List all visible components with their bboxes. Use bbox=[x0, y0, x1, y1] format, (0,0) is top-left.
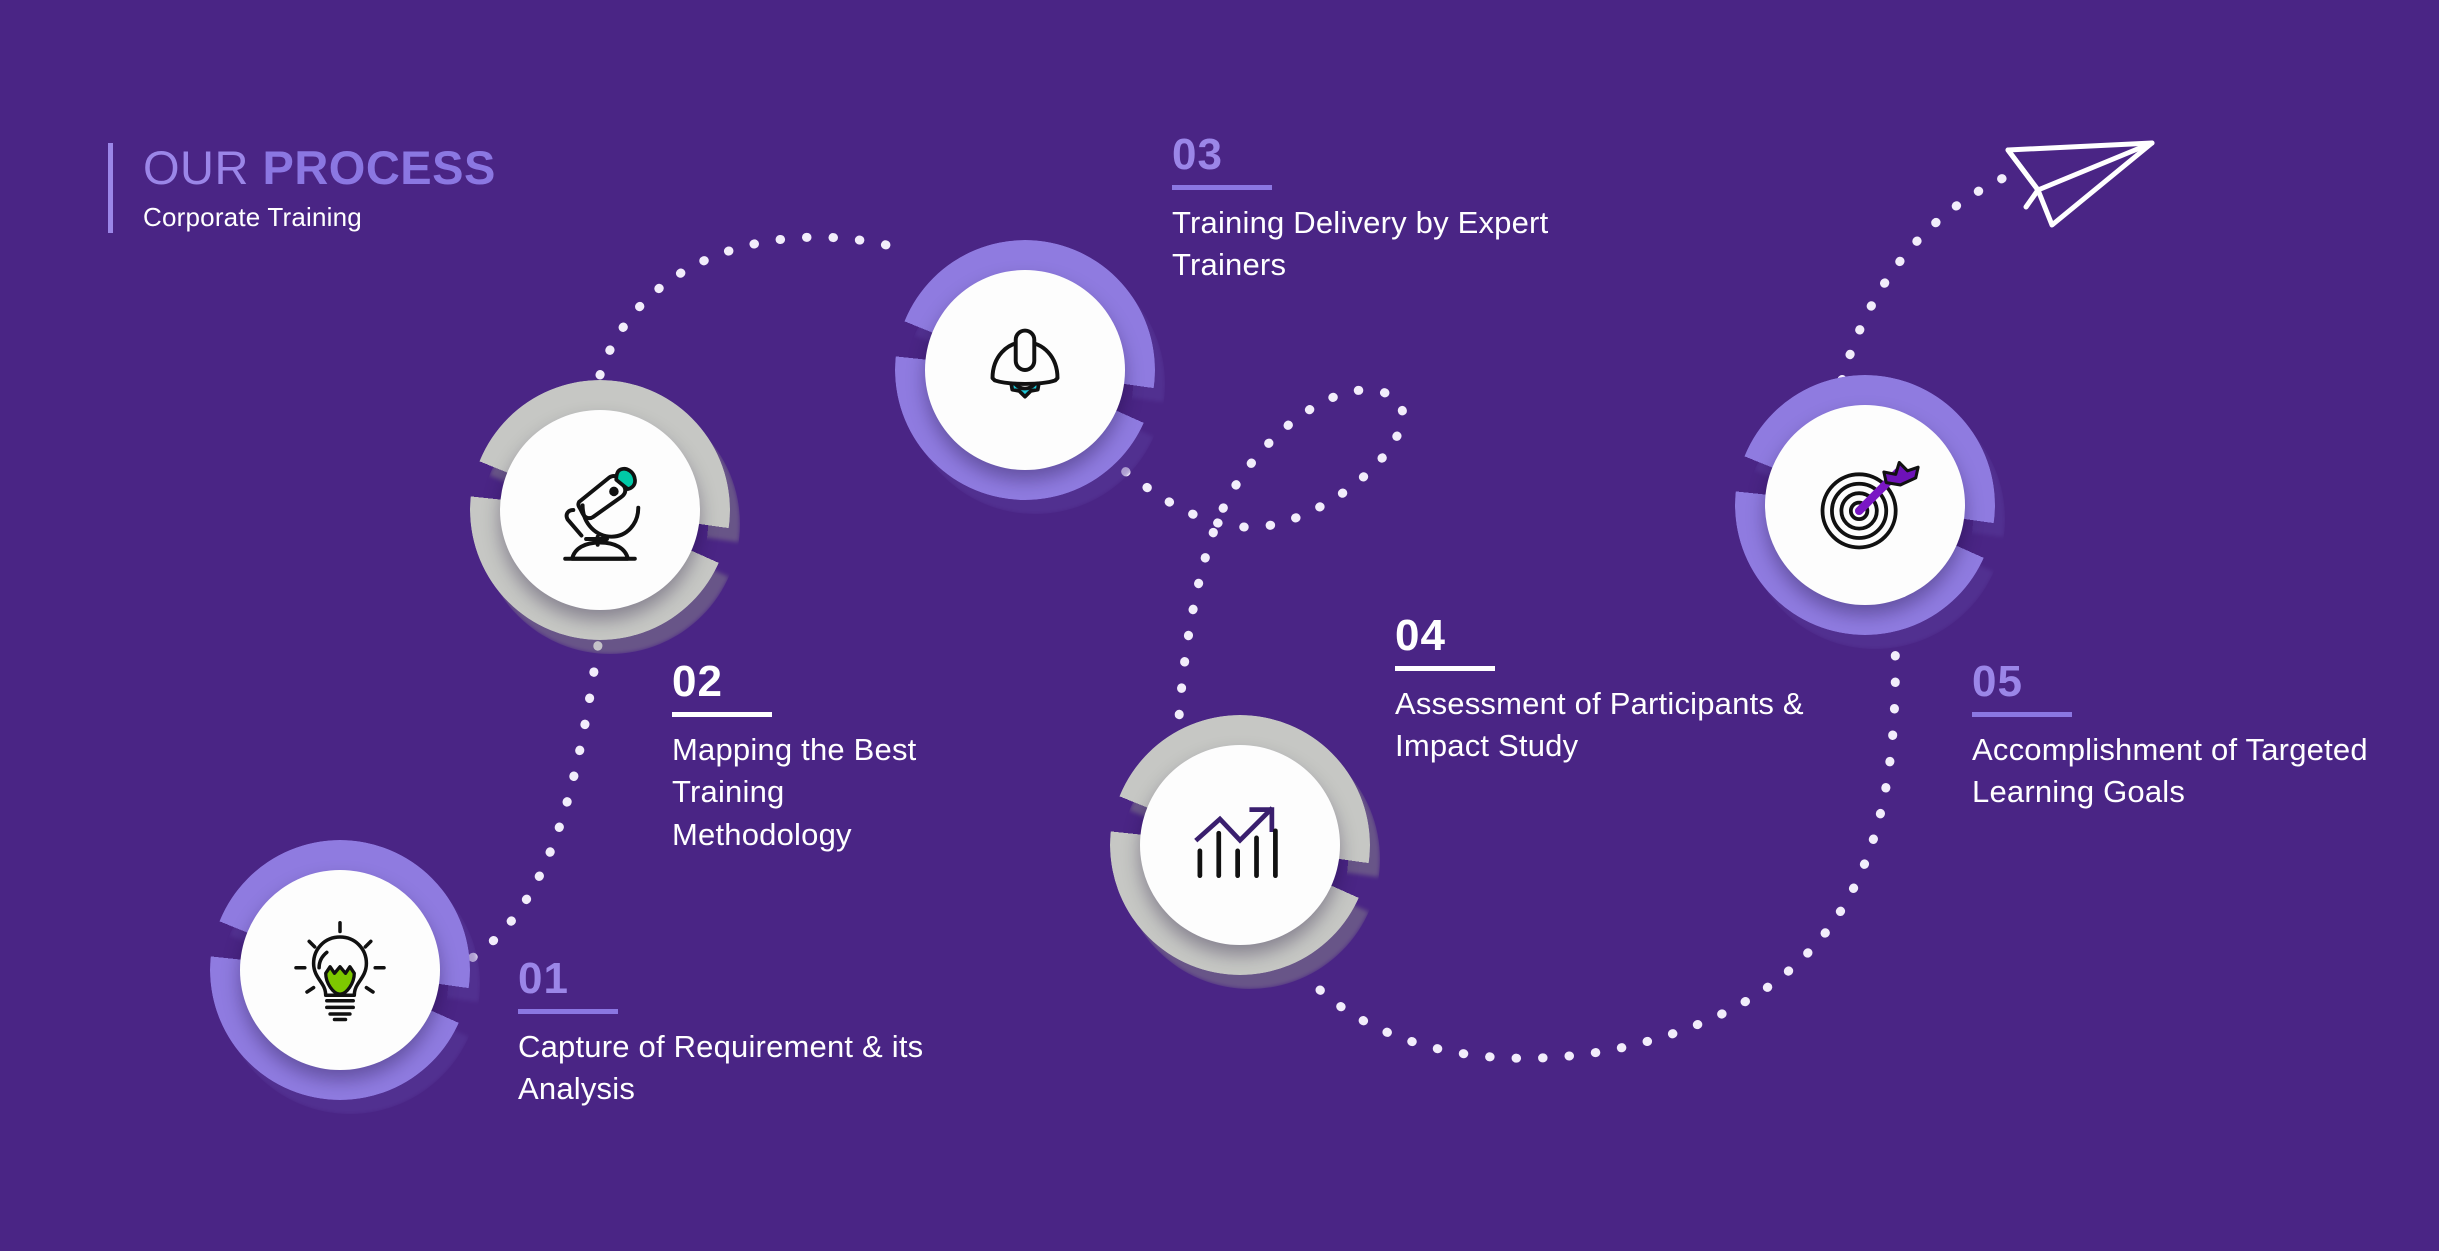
icon-disc bbox=[500, 410, 700, 610]
step-number: 03 bbox=[1172, 133, 1592, 177]
step-text-04: 04 Assessment of Participants & Impact S… bbox=[1395, 614, 1845, 768]
infographic-canvas: OUR PROCESS Corporate Training bbox=[0, 0, 2439, 1251]
step-label: Accomplishment of Targeted Learning Goal… bbox=[1972, 729, 2372, 814]
step-underline bbox=[518, 1009, 618, 1014]
page-title-light: OUR bbox=[143, 141, 263, 194]
page-title-bold: PROCESS bbox=[263, 141, 496, 194]
step-underline bbox=[672, 712, 772, 717]
step-node-04[interactable] bbox=[1110, 715, 1370, 975]
icon-disc bbox=[925, 270, 1125, 470]
step-underline bbox=[1395, 666, 1495, 671]
step-text-01: 01 Capture of Requirement & its Analysis bbox=[518, 957, 1038, 1111]
step-underline bbox=[1172, 185, 1272, 190]
step-number: 02 bbox=[672, 660, 972, 704]
icon-disc bbox=[240, 870, 440, 1070]
icon-disc bbox=[1140, 745, 1340, 945]
step-text-02: 02 Mapping the Best Training Methodology bbox=[672, 660, 972, 856]
step-text-05: 05 Accomplishment of Targeted Learning G… bbox=[1972, 660, 2372, 814]
step-label: Training Delivery by Expert Trainers bbox=[1172, 202, 1592, 287]
step-node-01[interactable] bbox=[210, 840, 470, 1100]
step-underline bbox=[1972, 712, 2072, 717]
target-dart-icon bbox=[1806, 446, 1924, 564]
step-text-03: 03 Training Delivery by Expert Trainers bbox=[1172, 133, 1592, 287]
page-title: OUR PROCESS bbox=[143, 143, 496, 194]
paper-plane-icon bbox=[1990, 125, 2160, 235]
page-subtitle: Corporate Training bbox=[143, 202, 496, 233]
step-number: 04 bbox=[1395, 614, 1845, 658]
step-label: Assessment of Participants & Impact Stud… bbox=[1395, 683, 1845, 768]
header-accent-bar bbox=[108, 143, 113, 233]
header-block: OUR PROCESS Corporate Training bbox=[108, 143, 496, 233]
icon-disc bbox=[1765, 405, 1965, 605]
lightbulb-icon bbox=[285, 915, 395, 1025]
step-number: 01 bbox=[518, 957, 1038, 1001]
hardhat-gear-icon bbox=[967, 312, 1083, 428]
step-node-03[interactable] bbox=[895, 240, 1155, 500]
step-label: Mapping the Best Training Methodology bbox=[672, 729, 972, 856]
step-number: 05 bbox=[1972, 660, 2372, 704]
microscope-icon bbox=[542, 452, 658, 568]
growth-chart-icon bbox=[1181, 786, 1299, 904]
step-node-05[interactable] bbox=[1735, 375, 1995, 635]
step-label: Capture of Requirement & its Analysis bbox=[518, 1026, 1038, 1111]
step-node-02[interactable] bbox=[470, 380, 730, 640]
